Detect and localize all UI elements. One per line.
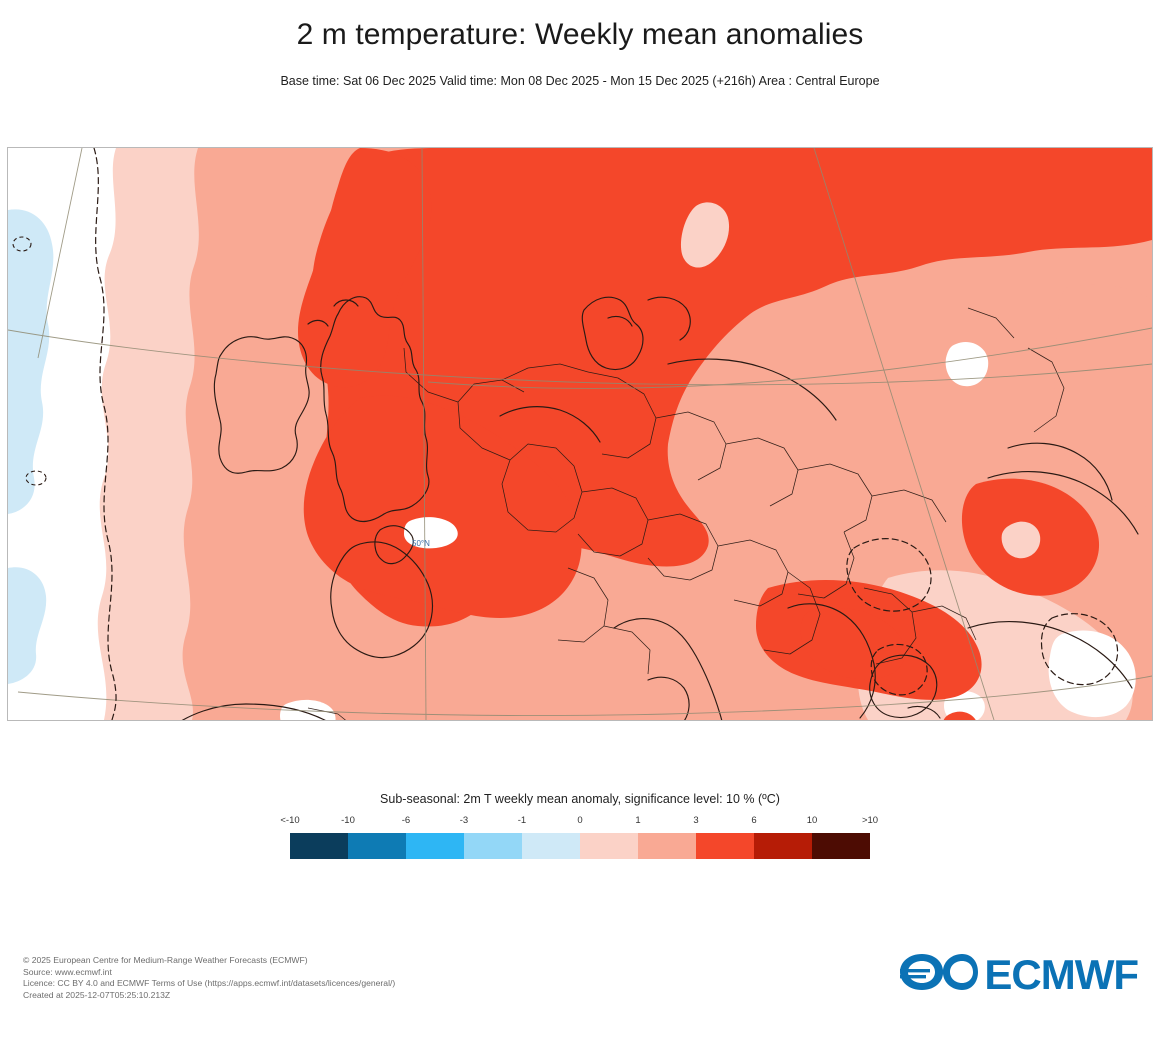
anomaly-map[interactable]: 50°N (8, 148, 1152, 720)
graticule-label-50n: 50°N (412, 539, 430, 548)
colorbar[interactable]: <-10-10-6-3-1013610>10 (290, 815, 870, 859)
colorbar-tick-6: 1 (635, 815, 640, 826)
colorbar-tick-0: <-10 (280, 815, 299, 826)
colorbar-swatch-2[interactable] (406, 833, 464, 859)
ecmwf-wordmark: ECMWF (984, 954, 1138, 996)
colorbar-tick-9: 10 (807, 815, 818, 826)
colorbar-swatch-8[interactable] (754, 833, 812, 859)
colorbar-swatch-4[interactable] (522, 833, 580, 859)
map-panel[interactable]: 50°N (7, 147, 1153, 721)
colorbar-swatches[interactable] (290, 833, 870, 859)
legend-block: Sub-seasonal: 2m T weekly mean anomaly, … (0, 792, 1160, 859)
colorbar-tick-7: 3 (693, 815, 698, 826)
legend-title: Sub-seasonal: 2m T weekly mean anomaly, … (0, 792, 1160, 806)
colorbar-swatch-1[interactable] (348, 833, 406, 859)
colorbar-tick-1: -10 (341, 815, 355, 826)
colorbar-tick-10: >10 (862, 815, 878, 826)
footer-line-copyright: © 2025 European Centre for Medium-Range … (23, 955, 395, 967)
ecmwf-logo: ECMWF (900, 952, 1138, 997)
colorbar-tick-3: -3 (460, 815, 468, 826)
footer-line-source: Source: www.ecmwf.int (23, 967, 395, 979)
colorbar-swatch-3[interactable] (464, 833, 522, 859)
colorbar-swatch-6[interactable] (638, 833, 696, 859)
colorbar-tick-2: -6 (402, 815, 410, 826)
colorbar-swatch-9[interactable] (812, 833, 870, 859)
colorbar-swatch-0[interactable] (290, 833, 348, 859)
colorbar-tick-8: 6 (751, 815, 756, 826)
colorbar-swatch-7[interactable] (696, 833, 754, 859)
colorbar-tick-labels: <-10-10-6-3-1013610>10 (290, 815, 870, 831)
footer-attribution: © 2025 European Centre for Medium-Range … (23, 955, 395, 1001)
colorbar-tick-5: 0 (577, 815, 582, 826)
footer-line-licence: Licence: CC BY 4.0 and ECMWF Terms of Us… (23, 978, 395, 990)
footer-line-created: Created at 2025-12-07T05:25:10.213Z (23, 990, 395, 1002)
ecmwf-cloud-icon (900, 952, 978, 997)
colorbar-tick-4: -1 (518, 815, 526, 826)
page-title: 2 m temperature: Weekly mean anomalies (0, 18, 1160, 52)
page-subtitle: Base time: Sat 06 Dec 2025 Valid time: M… (0, 74, 1160, 88)
colorbar-swatch-5[interactable] (580, 833, 638, 859)
footer-divider (0, 1020, 1160, 1045)
